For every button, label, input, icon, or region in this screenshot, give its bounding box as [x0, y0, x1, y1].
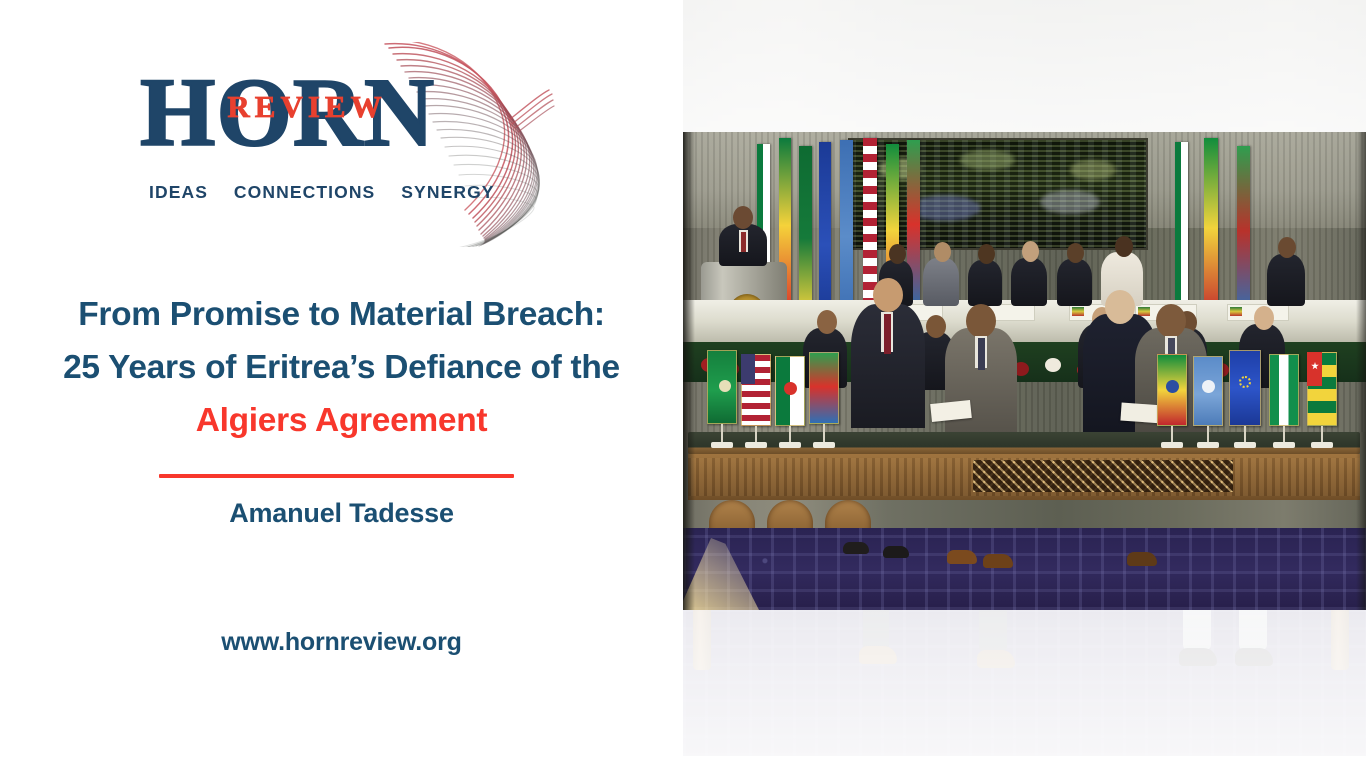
shoe-bleed-2: [977, 650, 1015, 668]
photo-edge-shadow-left: [683, 132, 695, 610]
table-flag-ethiopia-emblem: [1166, 380, 1179, 393]
table-flag-ethiopia-base: [1161, 442, 1183, 448]
title-line-3-accent: Algiers Agreement: [0, 394, 683, 447]
screen-blob-4: [1040, 190, 1100, 214]
flower-white-4: [1045, 358, 1061, 372]
table-flag-oau-base: [711, 442, 733, 448]
speaker-at-podium-head: [733, 206, 753, 229]
table-flag-un-emblem: [1202, 380, 1215, 393]
table-leg-bleed-left: [693, 610, 711, 670]
backdrop-flag-algeria-right: [1175, 142, 1188, 316]
delegate-head-2: [934, 242, 951, 262]
shoe-bleed-1: [859, 646, 897, 664]
delegate-head-5: [1067, 243, 1084, 263]
signatory-annan-head: [1105, 290, 1135, 324]
hall-wall: [683, 0, 1366, 132]
table-flag-us-canton: [741, 354, 755, 384]
backdrop-flag-ethiopia-right: [1204, 138, 1218, 318]
signatory-left-tie: [884, 314, 891, 354]
article-title: From Promise to Material Breach: 25 Year…: [0, 288, 683, 447]
official-head-mid-1: [926, 315, 946, 338]
delegate-body-4: [1011, 258, 1047, 306]
delegate-body-5: [1057, 259, 1092, 306]
tagline-word-synergy: SYNERGY: [401, 182, 494, 203]
backdrop-flag-african-union: [799, 146, 812, 314]
photo-band-main: [683, 132, 1366, 610]
shoe-3: [1127, 552, 1157, 566]
signatory-left-head: [873, 278, 903, 312]
delegate-body-3: [968, 260, 1002, 306]
shoe-2: [983, 554, 1013, 568]
table-flag-togo-base: [1311, 442, 1333, 448]
table-flag-eritrea: [809, 352, 839, 424]
delegate-head-7: [1278, 237, 1296, 258]
table-lattice-panel: [973, 460, 1233, 492]
shoe-4: [883, 546, 909, 558]
table-flag-us-base: [745, 442, 767, 448]
official-head-right-2: [1254, 306, 1274, 330]
official-head-left-1: [817, 310, 837, 334]
title-line-2: 25 Years of Eritrea’s Defiance of the: [0, 341, 683, 394]
backdrop-flag-eritrea-right: [1237, 146, 1250, 316]
screen-blob-3: [910, 195, 980, 221]
patterned-carpet: [683, 528, 1366, 610]
table-flag-oau-emblem: [719, 380, 731, 392]
logo-review-text: REVIEW: [182, 91, 432, 122]
backdrop-flag-european-union: [819, 142, 831, 314]
left-content-panel: HORN REVIEW IDEAS CONNECTIONS SYNERGY Fr…: [0, 0, 683, 768]
table-flag-algeria-crescent: [784, 382, 797, 395]
ceremony-photo-panel: [683, 0, 1366, 768]
logo-wordmark: HORN REVIEW IDEAS CONNECTIONS SYNERGY: [140, 64, 440, 164]
photo-edge-shadow-right: [1356, 132, 1366, 610]
trouser-leg-bleed-2: [979, 610, 1007, 652]
delegate-head-1: [889, 244, 906, 264]
table-flag-european-union: [1229, 350, 1261, 426]
author-name: Amanuel Tadesse: [0, 498, 683, 529]
photo-band-bottom-faded: [683, 610, 1366, 768]
screen-blob-2: [960, 150, 1015, 170]
trouser-leg-bleed-3: [1183, 610, 1211, 650]
table-flag-nigeria-base: [1273, 442, 1295, 448]
delegate-body-2: [923, 258, 959, 306]
tagline-word-connections: CONNECTIONS: [234, 182, 375, 203]
backdrop-flag-united-nations: [840, 140, 853, 316]
signatory-isaias-head: [966, 304, 996, 338]
tagline-word-ideas: IDEAS: [149, 182, 208, 203]
table-flag-nigeria: [1269, 354, 1299, 426]
table-flag-un-base: [1197, 442, 1219, 448]
table-flag-eritrea-pole: [823, 424, 825, 444]
speaker-tie: [741, 232, 746, 252]
table-flag-eritrea-base: [813, 442, 835, 448]
table-leg-bleed-right: [1331, 610, 1349, 670]
ceremony-scene: [683, 132, 1366, 610]
screen-blob-5: [1070, 160, 1116, 180]
table-flag-eu-stars: [1239, 376, 1251, 388]
table-flag-oau-pole: [721, 424, 723, 444]
shoe-bleed-3: [1179, 648, 1217, 666]
trouser-leg-bleed-4: [1239, 610, 1267, 650]
signatory-isaias-tie: [978, 338, 985, 370]
website-url[interactable]: www.hornreview.org: [0, 628, 683, 657]
shoe-1: [947, 550, 977, 564]
logo-tagline: IDEAS CONNECTIONS SYNERGY: [149, 182, 449, 203]
photo-band-top-faded: [683, 0, 1366, 132]
shoe-bleed-4: [1235, 648, 1273, 666]
table-flag-togo-canton: [1307, 352, 1322, 386]
table-flag-eu-base: [1234, 442, 1256, 448]
nameplate-flag-3: [1072, 307, 1084, 316]
shoe-5: [843, 542, 869, 554]
table-flag-algeria-base: [779, 442, 801, 448]
poster-canvas: HORN REVIEW IDEAS CONNECTIONS SYNERGY Fr…: [0, 0, 1366, 768]
scene-copy-bottom: [683, 610, 1366, 678]
delegate-head-3: [978, 244, 995, 264]
title-line-1: From Promise to Material Breach:: [0, 288, 683, 341]
delegate-head-4: [1022, 241, 1039, 262]
horn-review-logo[interactable]: HORN REVIEW IDEAS CONNECTIONS SYNERGY: [130, 52, 550, 202]
delegate-body-7: [1267, 254, 1305, 306]
nameplate-flag-5: [1230, 307, 1242, 316]
signatory-meles-head: [1156, 304, 1186, 338]
scene-copy-top: [683, 0, 1366, 132]
red-divider-rule: [159, 474, 514, 478]
delegate-head-6: [1115, 236, 1133, 257]
